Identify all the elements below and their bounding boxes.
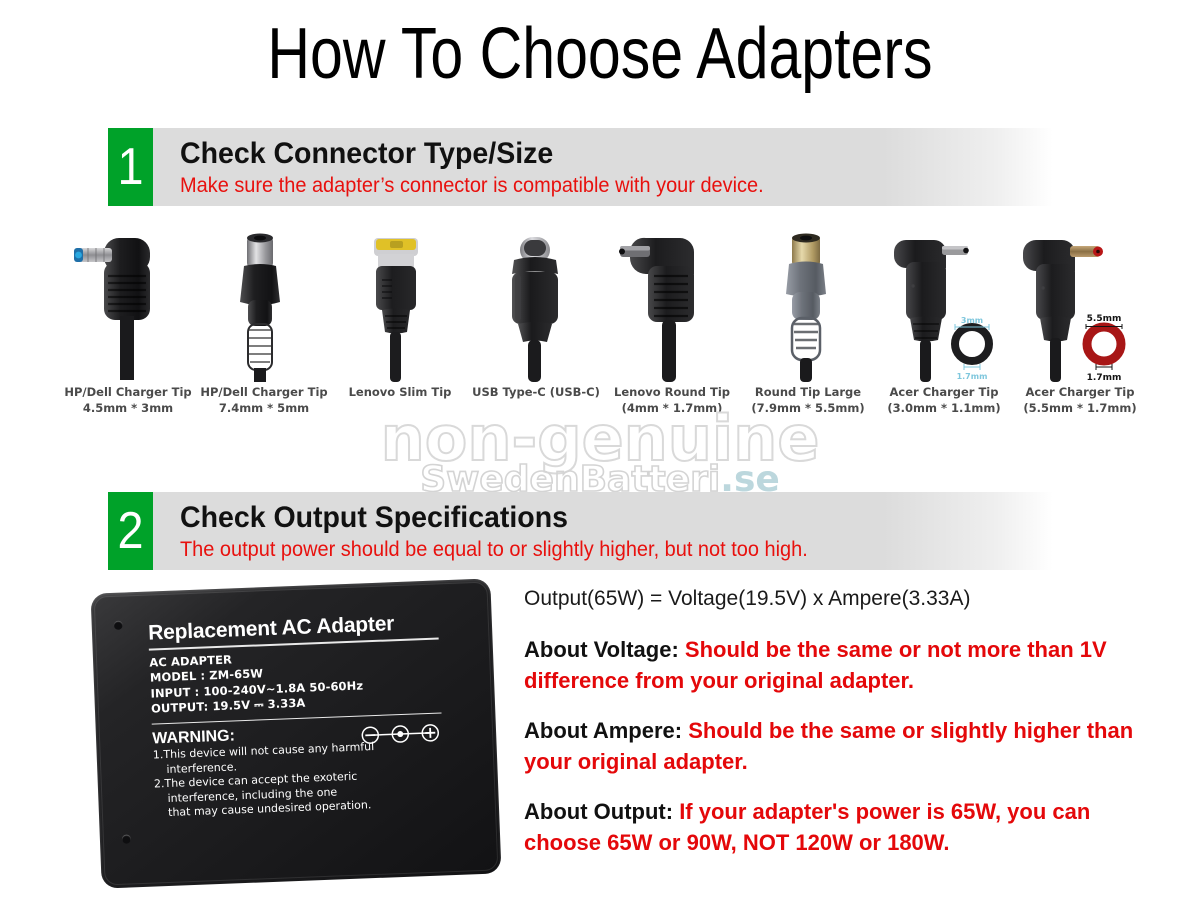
connector-caption-usb-c: USB Type-C (USB-C)	[460, 384, 612, 400]
spec-key-voltage: About Voltage:	[524, 637, 679, 662]
connector-item-hp-dell-7-4mm[interactable]: HP/Dell Charger Tip 7.4mm * 5mm	[196, 232, 332, 432]
adapter-screw-top-left	[114, 621, 123, 630]
page-title: How To Choose Adapters	[108, 16, 1092, 92]
step-1-number-badge: 1	[108, 128, 153, 206]
connector-name: USB Type-C (USB-C)	[472, 385, 600, 399]
connector-image-hp-dell-4-5mm	[60, 232, 196, 382]
spec-about-output: About Output: If your adapter's power is…	[524, 796, 1164, 858]
step-2-header: 2 Check Output Specifications The output…	[108, 492, 1053, 570]
connector-size: (7.9mm * 5.5mm)	[751, 401, 864, 415]
connector-size: 4.5mm * 3mm	[83, 401, 173, 415]
connector-image-round-tip-large	[740, 232, 876, 382]
adapter-photo: Replacement AC Adapter AC ADAPTER MODEL …	[88, 576, 508, 896]
connector-image-acer-5-5mm: 5.5mm 1.7mm	[1012, 232, 1148, 382]
svg-text:1.7mm: 1.7mm	[1087, 373, 1122, 382]
adapter-screw-bottom-left	[122, 834, 131, 843]
connector-caption-hp-dell-7-4mm: HP/Dell Charger Tip 7.4mm * 5mm	[188, 384, 340, 416]
connector-item-hp-dell-4-5mm[interactable]: HP/Dell Charger Tip 4.5mm * 3mm	[60, 232, 196, 432]
adapter-spec-label: Replacement AC Adapter AC ADAPTER MODEL …	[148, 611, 446, 847]
connector-caption-round-tip-large: Round Tip Large (7.9mm * 5.5mm)	[732, 384, 884, 416]
connector-size: (3.0mm * 1.1mm)	[887, 401, 1000, 415]
infographic-page: How To Choose Adapters 1 Check Connector…	[0, 0, 1200, 900]
svg-text:1.7mm: 1.7mm	[957, 372, 988, 381]
acer-5-5mm-ring-diagram: 5.5mm 1.7mm	[1086, 314, 1122, 382]
step-2-heading: Check Output Specifications	[180, 501, 808, 534]
connector-image-lenovo-round-tip	[604, 232, 740, 382]
connector-image-usb-c	[468, 232, 604, 382]
adapter-warning-body: 1.This device will not cause any harmful…	[153, 737, 446, 821]
connector-size: (5.5mm * 1.7mm)	[1023, 401, 1136, 415]
connector-name: Acer Charger Tip	[890, 385, 999, 399]
spec-key-output: About Output:	[524, 799, 673, 824]
connector-name: HP/Dell Charger Tip	[64, 385, 191, 399]
connector-caption-hp-dell-4-5mm: HP/Dell Charger Tip 4.5mm * 3mm	[52, 384, 204, 416]
connector-size: (4mm * 1.7mm)	[622, 401, 723, 415]
step-2-text: Check Output Specifications The output p…	[158, 492, 841, 570]
connector-image-lenovo-slim-tip	[332, 232, 468, 382]
spec-about-ampere: About Ampere: Should be the same or slig…	[524, 715, 1164, 777]
svg-text:3mm: 3mm	[961, 316, 983, 325]
step-1-header: 1 Check Connector Type/Size Make sure th…	[108, 128, 1053, 206]
svg-text:5.5mm: 5.5mm	[1087, 314, 1122, 324]
connector-caption-lenovo-round-tip: Lenovo Round Tip (4mm * 1.7mm)	[596, 384, 748, 416]
connector-name: Acer Charger Tip	[1026, 385, 1135, 399]
connector-caption-lenovo-slim-tip: Lenovo Slim Tip	[324, 384, 476, 400]
connector-item-acer-5-5mm[interactable]: 5.5mm 1.7mm Acer Charger Tip (5.5mm * 1.…	[1012, 232, 1148, 432]
acer-3mm-ring-diagram: 3mm 1.7mm	[955, 316, 989, 381]
connector-gallery: HP/Dell Charger Tip 4.5mm * 3mm	[60, 232, 1150, 432]
connector-item-usb-c[interactable]: USB Type-C (USB-C)	[468, 232, 604, 432]
output-specification-text: Output(65W) = Voltage(19.5V) x Ampere(3.…	[524, 586, 1164, 877]
spec-key-ampere: About Ampere:	[524, 718, 682, 743]
connector-item-acer-3-0mm[interactable]: 3mm 1.7mm Acer Charger Tip (3.0mm * 1.1m…	[876, 232, 1012, 432]
connector-name: Round Tip Large	[755, 385, 861, 399]
step-2-number-badge: 2	[108, 492, 153, 570]
step-1-heading: Check Connector Type/Size	[180, 137, 764, 170]
step-1-subheading: Make sure the adapter’s connector is com…	[180, 173, 764, 198]
connector-name: HP/Dell Charger Tip	[200, 385, 327, 399]
connector-item-lenovo-slim-tip[interactable]: Lenovo Slim Tip	[332, 232, 468, 432]
connector-name: Lenovo Slim Tip	[349, 385, 452, 399]
connector-size: 7.4mm * 5mm	[219, 401, 309, 415]
connector-item-lenovo-round-tip[interactable]: Lenovo Round Tip (4mm * 1.7mm)	[604, 232, 740, 432]
output-equation: Output(65W) = Voltage(19.5V) x Ampere(3.…	[524, 586, 1164, 612]
connector-caption-acer-3-0mm: Acer Charger Tip (3.0mm * 1.1mm)	[868, 384, 1020, 416]
connector-item-round-tip-large[interactable]: Round Tip Large (7.9mm * 5.5mm)	[740, 232, 876, 432]
spec-about-voltage: About Voltage: Should be the same or not…	[524, 634, 1164, 696]
connector-caption-acer-5-5mm: Acer Charger Tip (5.5mm * 1.7mm)	[1004, 384, 1156, 416]
step-2-subheading: The output power should be equal to or s…	[180, 537, 808, 562]
connector-name: Lenovo Round Tip	[614, 385, 730, 399]
polarity-symbol	[358, 722, 443, 745]
connector-image-acer-3-0mm: 3mm 1.7mm	[876, 232, 1012, 382]
connector-image-hp-dell-7-4mm	[196, 232, 332, 382]
step-1-text: Check Connector Type/Size Make sure the …	[158, 128, 794, 206]
